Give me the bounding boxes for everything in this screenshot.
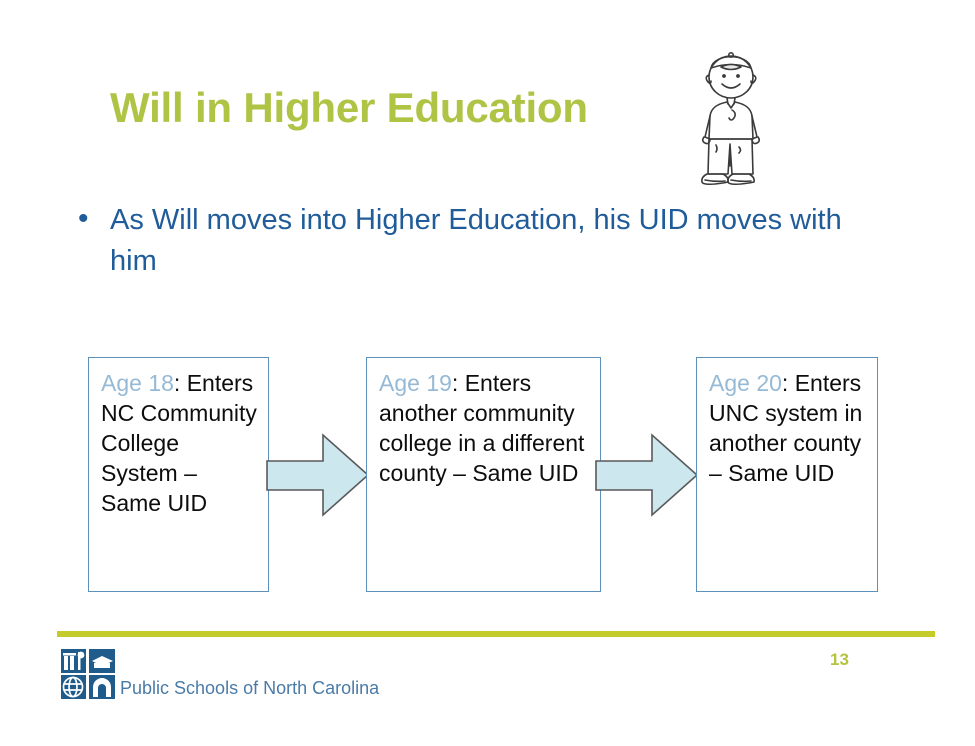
- flow-box-age-18: Age 18: Enters NC Community College Syst…: [88, 357, 269, 592]
- flow-box-3-colon: :: [782, 370, 788, 396]
- flow-box-2-age-label: Age 19: [379, 370, 452, 396]
- flow-box-1-colon: :: [174, 370, 180, 396]
- flow-box-3-age-label: Age 20: [709, 370, 782, 396]
- page-number: 13: [830, 650, 849, 670]
- slide-title: Will in Higher Education: [110, 84, 588, 132]
- flow-arrow-2-right-icon: [594, 423, 699, 528]
- presentation-slide: Will in Higher Education: [0, 0, 975, 746]
- bullet-marker-icon: •: [78, 200, 110, 238]
- flow-box-age-19: Age 19: Enters another community college…: [366, 357, 601, 592]
- footer-divider-rule: [57, 631, 935, 637]
- footer-organization-name: Public Schools of North Carolina: [120, 678, 379, 699]
- bullet-list: • As Will moves into Higher Education, h…: [78, 200, 878, 282]
- flow-box-age-20: Age 20: Enters UNC system in another cou…: [696, 357, 878, 592]
- will-cartoon-boy-illustration: [683, 44, 779, 194]
- flow-arrow-1-right-icon: [265, 423, 370, 528]
- flow-box-1-age-label: Age 18: [101, 370, 174, 396]
- flow-box-2-colon: :: [452, 370, 458, 396]
- bullet-item-text: As Will moves into Higher Education, his…: [110, 200, 870, 282]
- public-schools-north-carolina-logo-icon: [60, 648, 116, 700]
